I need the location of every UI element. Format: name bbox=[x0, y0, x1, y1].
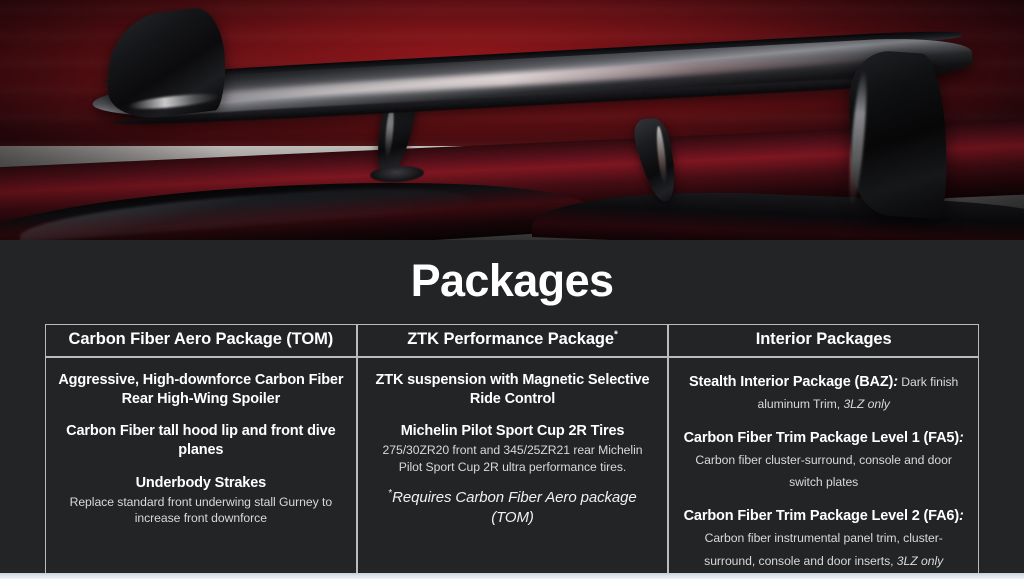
slide-root: Packages Carbon Fiber Aero Package (TOM)… bbox=[0, 0, 1024, 579]
package-entry-description: Carbon fiber instrumental panel trim, cl… bbox=[704, 531, 943, 567]
package-entry-trim-note: 3LZ only bbox=[897, 554, 943, 568]
column-header-label: Carbon Fiber Aero Package (TOM) bbox=[69, 330, 334, 348]
column-header-carbon-fiber-aero: Carbon Fiber Aero Package (TOM) bbox=[45, 324, 357, 357]
column-header-label: ZTK Performance Package bbox=[407, 330, 614, 348]
hero-image bbox=[0, 0, 1024, 240]
column-header-interior-packages: Interior Packages bbox=[668, 324, 979, 357]
package-entry-colon: : bbox=[959, 430, 964, 446]
package-entry-title: Stealth Interior Package (BAZ): bbox=[689, 374, 898, 390]
package-entry: Stealth Interior Package (BAZ): Dark fin… bbox=[681, 371, 966, 415]
package-entry-description-text: Carbon fiber cluster-surround, console a… bbox=[695, 453, 951, 489]
package-entry-title: Carbon Fiber Trim Package Level 1 (FA5): bbox=[684, 430, 964, 446]
package-footnote: *Requires Carbon Fiber Aero package (TOM… bbox=[370, 488, 656, 529]
packages-panel: Packages Carbon Fiber Aero Package (TOM)… bbox=[0, 240, 1024, 573]
package-entry-title: Carbon Fiber tall hood lip and front div… bbox=[58, 422, 344, 460]
column-body-interior-packages: Stealth Interior Package (BAZ): Dark fin… bbox=[668, 357, 979, 579]
package-entry: Carbon Fiber Trim Package Level 1 (FA5):… bbox=[681, 427, 966, 493]
package-entry-title: ZTK suspension with Magnetic Selective R… bbox=[370, 371, 656, 409]
package-entry-description: 275/30ZR20 front and 345/25ZR21 rear Mic… bbox=[370, 442, 656, 475]
column-header-label: Interior Packages bbox=[756, 330, 892, 348]
package-entry-description: Carbon fiber cluster-surround, console a… bbox=[695, 453, 951, 489]
hero-vignette bbox=[0, 0, 1024, 240]
package-entry-colon: : bbox=[959, 508, 964, 524]
package-entry-title: Underbody Strakes bbox=[58, 474, 344, 493]
column-header-ztk-performance: ZTK Performance Package* bbox=[357, 324, 669, 357]
bottom-strip bbox=[0, 573, 1024, 579]
column-body-carbon-fiber-aero: Aggressive, High-downforce Carbon Fiber … bbox=[45, 357, 357, 579]
package-entry: Aggressive, High-downforce Carbon Fiber … bbox=[58, 371, 344, 409]
package-entry-title: Michelin Pilot Sport Cup 2R Tires bbox=[370, 422, 656, 441]
package-entry-title: Aggressive, High-downforce Carbon Fiber … bbox=[58, 371, 344, 409]
package-entry: Michelin Pilot Sport Cup 2R Tires 275/30… bbox=[370, 422, 656, 475]
package-entry-title: Carbon Fiber Trim Package Level 2 (FA6): bbox=[684, 508, 964, 524]
column-header-superscript: * bbox=[614, 330, 618, 341]
table-header-row: Carbon Fiber Aero Package (TOM) ZTK Perf… bbox=[45, 324, 979, 357]
package-entry: Carbon Fiber Trim Package Level 2 (FA6):… bbox=[681, 505, 966, 571]
package-entry-name: Stealth Interior Package (BAZ) bbox=[689, 374, 893, 390]
table-body-row: Aggressive, High-downforce Carbon Fiber … bbox=[45, 357, 979, 579]
footnote-label: Requires Carbon Fiber Aero package (TOM) bbox=[392, 489, 637, 526]
page-title: Packages bbox=[0, 258, 1024, 303]
package-footnote-text: *Requires Carbon Fiber Aero package (TOM… bbox=[370, 488, 656, 529]
package-entry: Carbon Fiber tall hood lip and front div… bbox=[58, 422, 344, 460]
package-entry-name: Carbon Fiber Trim Package Level 1 (FA5) bbox=[684, 430, 959, 446]
package-entry: ZTK suspension with Magnetic Selective R… bbox=[370, 371, 656, 409]
packages-table: Carbon Fiber Aero Package (TOM) ZTK Perf… bbox=[45, 324, 979, 579]
package-entry: Underbody Strakes Replace standard front… bbox=[58, 474, 344, 527]
package-entry-trim-note: 3LZ only bbox=[843, 397, 889, 411]
package-entry-description: Replace standard front underwing stall G… bbox=[58, 494, 344, 527]
column-body-ztk-performance: ZTK suspension with Magnetic Selective R… bbox=[357, 357, 669, 579]
package-entry-name: Carbon Fiber Trim Package Level 2 (FA6) bbox=[684, 508, 959, 524]
